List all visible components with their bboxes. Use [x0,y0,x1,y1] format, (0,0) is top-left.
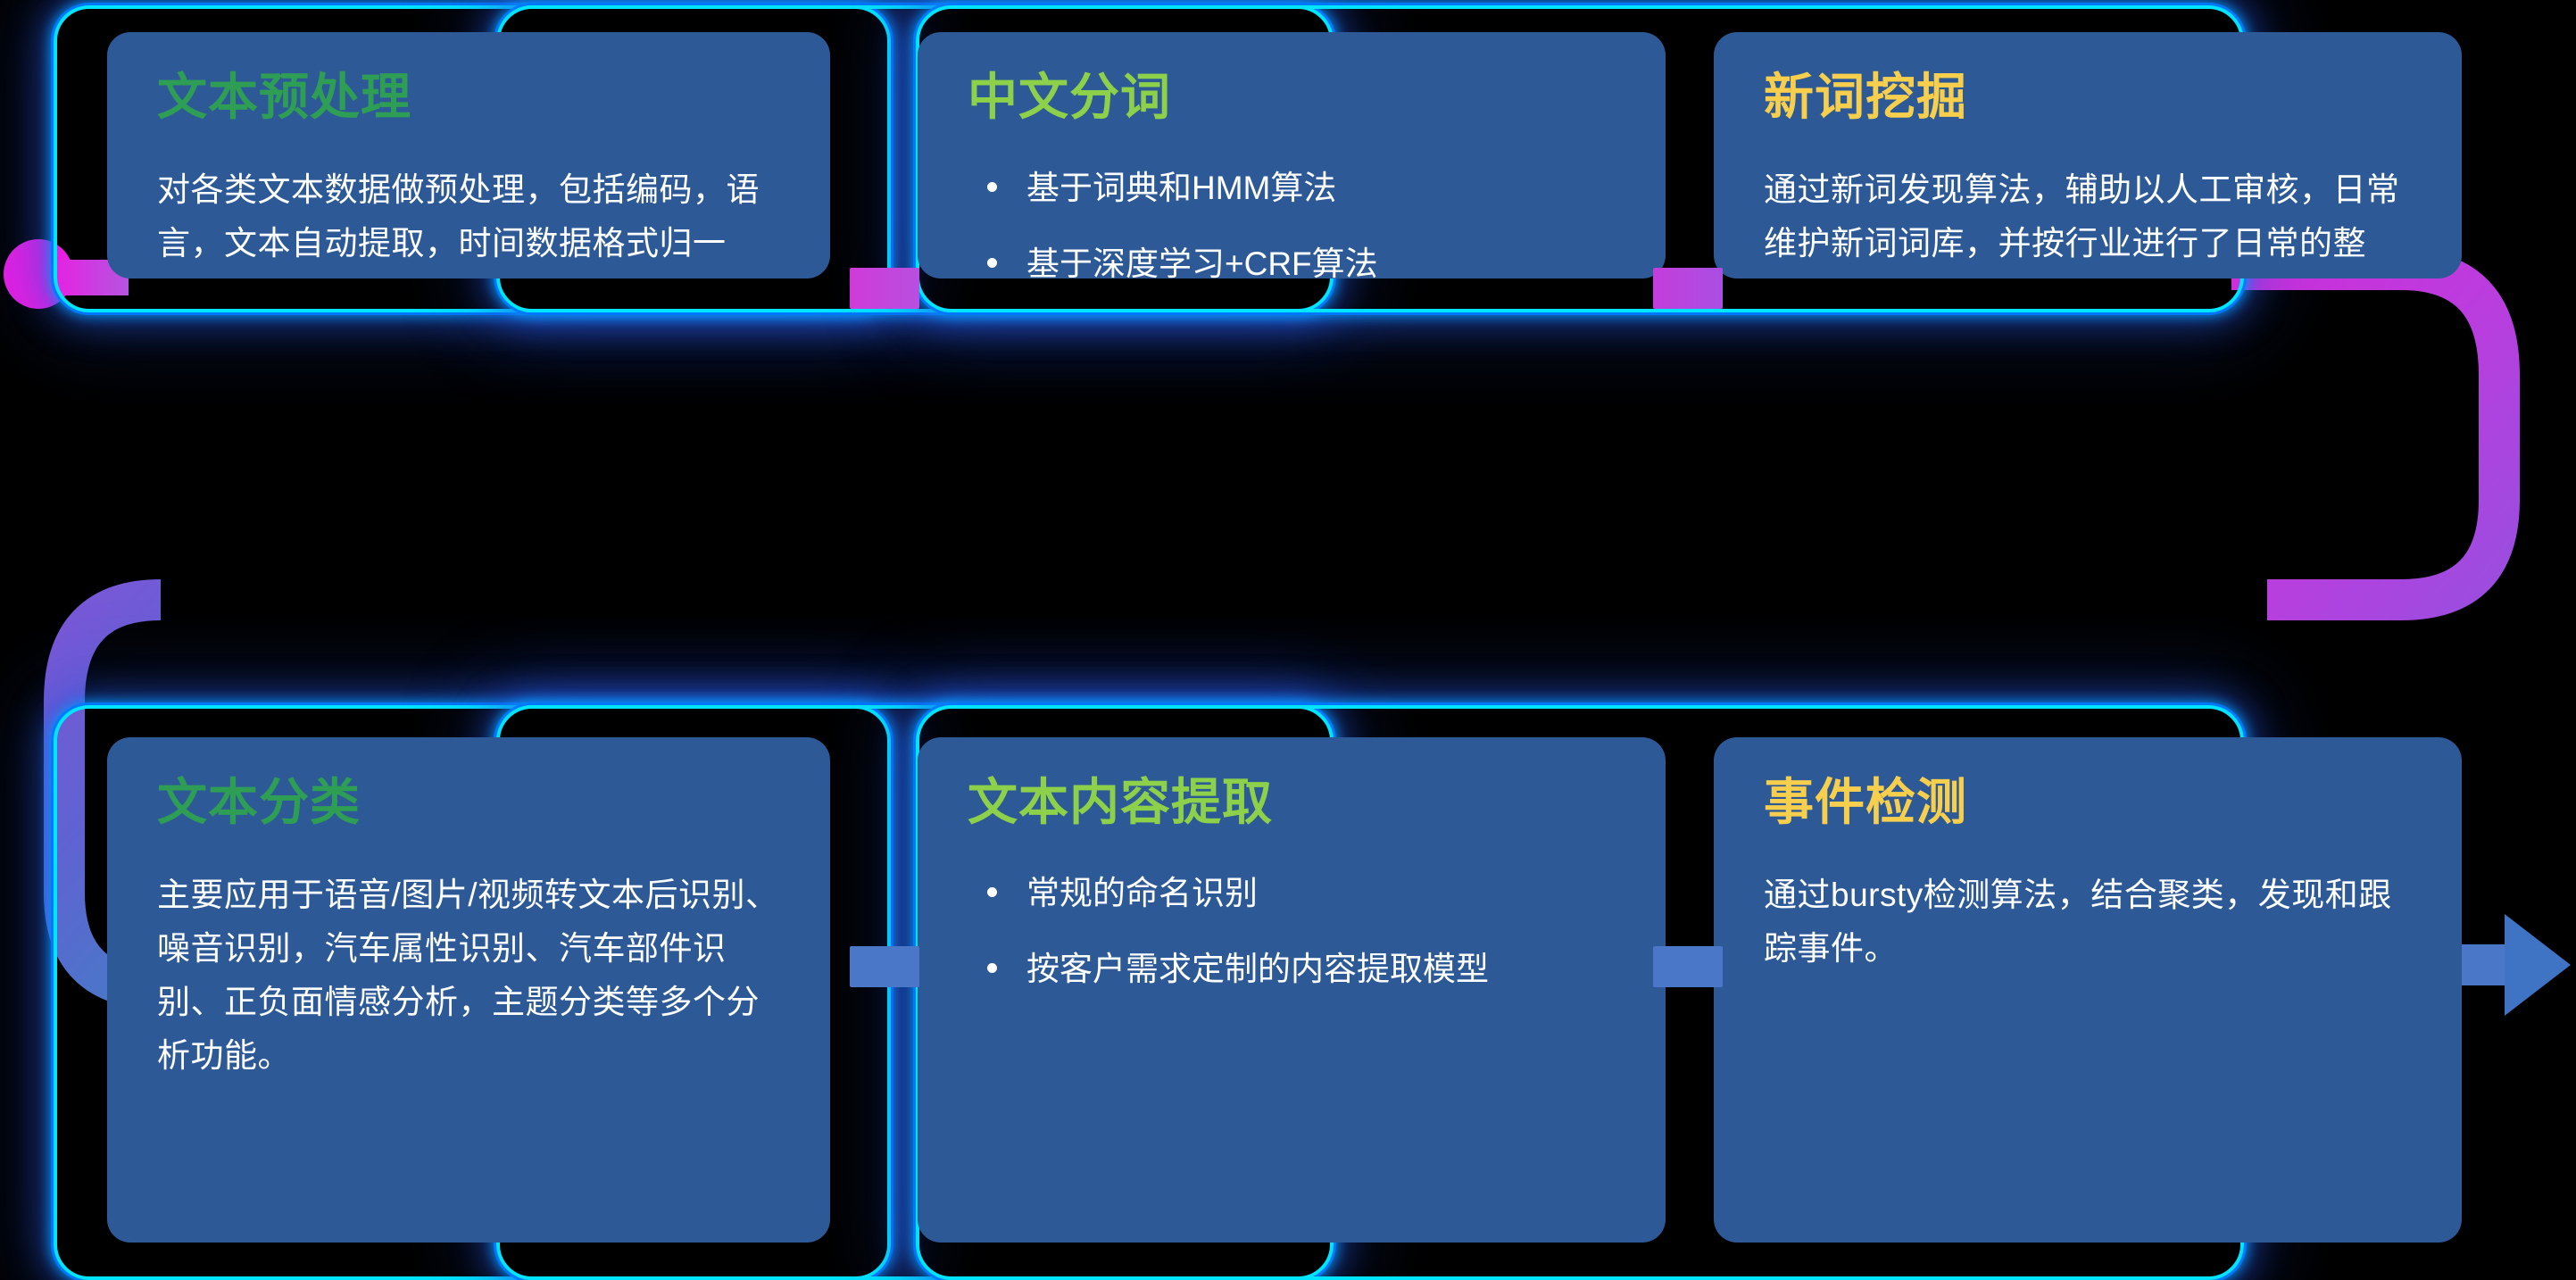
card-title: 文本分类 [157,777,780,829]
card-title: 中文分词 [968,71,1616,124]
card-bullet-list: 常规的命名识别 按客户需求定制的内容提取模型 [968,869,1616,994]
connector-stub-4-to-5 [850,946,919,987]
connector-stub-1-to-2 [850,268,919,309]
list-item: 基于深度学习+CRF算法 [968,239,1616,278]
card-paragraph: 通过bursty检测算法，结合聚类，发现和跟踪事件。 [1764,869,2412,976]
card-title: 事件检测 [1764,777,2412,829]
card-chinese-word-segmentation[interactable]: 中文分词 基于词典和HMM算法 基于深度学习+CRF算法 行业专有词典 [918,32,1666,278]
card-paragraph: 对各类文本数据做预处理，包括编码，语言，文本自动提取，时间数据格式归一化；对特定… [157,163,780,278]
diagram-canvas: 文本预处理 对各类文本数据做预处理，包括编码，语言，文本自动提取，时间数据格式归… [0,0,2576,1277]
card-event-detection[interactable]: 事件检测 通过bursty检测算法，结合聚类，发现和跟踪事件。 [1714,737,2462,1243]
list-item: 基于词典和HMM算法 [968,163,1616,213]
connector-stub-2-to-3 [1653,268,1723,309]
list-item: 按客户需求定制的内容提取模型 [968,944,1616,994]
connector-top-right-curve [2231,270,2499,600]
list-item: 常规的命名识别 [968,869,1616,918]
arrow-right-icon [2446,914,2571,1016]
card-paragraph: 主要应用于语音/图片/视频转文本后识别、噪音识别，汽车属性识别、汽车部件识别、正… [157,869,780,1083]
card-text-content-extraction[interactable]: 文本内容提取 常规的命名识别 按客户需求定制的内容提取模型 [918,737,1666,1243]
card-title: 文本内容提取 [968,777,1616,829]
card-title: 文本预处理 [157,71,780,124]
card-paragraph: 通过新词发现算法，辅助以人工审核，日常维护新词词库，并按行业进行了日常的整理。 [1764,163,2412,278]
card-text-classification[interactable]: 文本分类 主要应用于语音/图片/视频转文本后识别、噪音识别，汽车属性识别、汽车部… [107,737,830,1243]
card-text-preprocessing[interactable]: 文本预处理 对各类文本数据做预处理，包括编码，语言，文本自动提取，时间数据格式归… [107,32,830,278]
card-bullet-list: 基于词典和HMM算法 基于深度学习+CRF算法 行业专有词典 [968,163,1616,278]
card-title: 新词挖掘 [1764,71,2412,124]
connector-stub-5-to-6 [1653,946,1723,987]
card-new-word-mining[interactable]: 新词挖掘 通过新词发现算法，辅助以人工审核，日常维护新词词库，并按行业进行了日常… [1714,32,2462,278]
